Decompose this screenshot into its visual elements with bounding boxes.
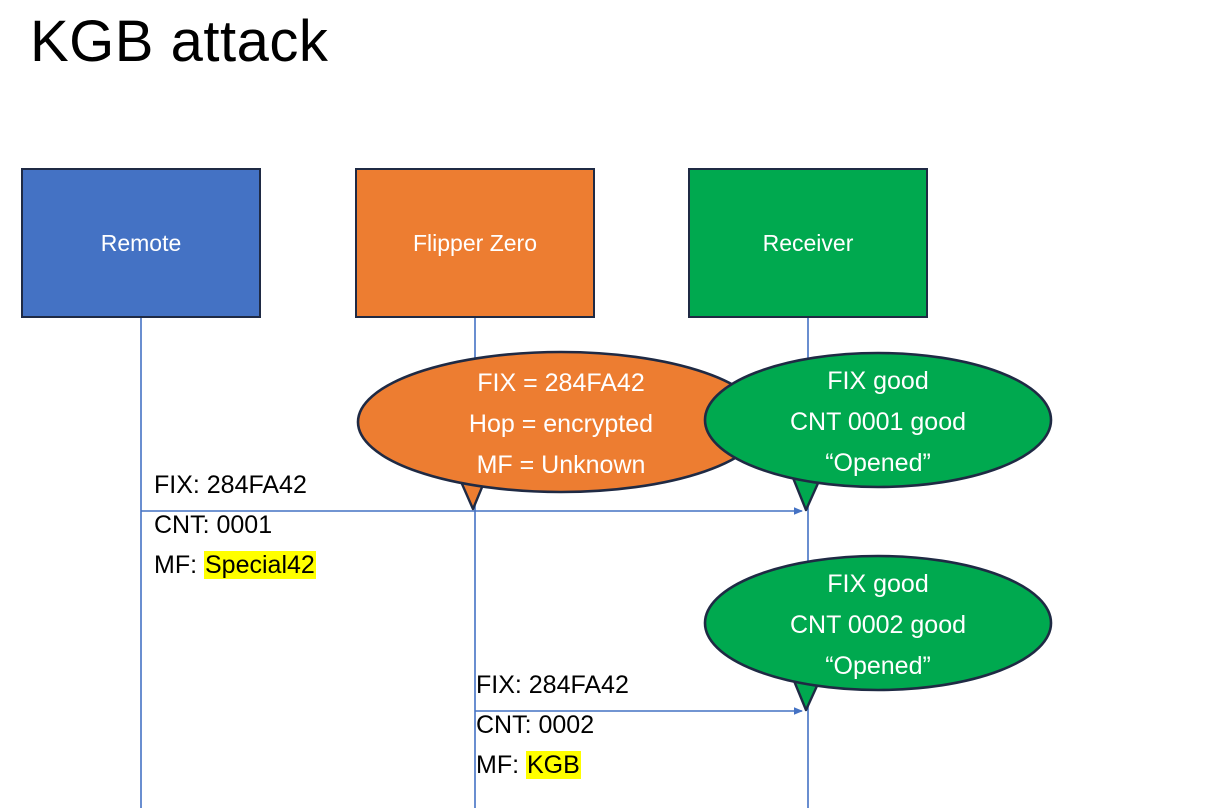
actor-box-flipper[interactable]: Flipper Zero — [355, 168, 595, 318]
message-label-1: FIX: 284FA42 CNT: 0001 MF: Special42 — [154, 465, 316, 585]
actor-box-receiver[interactable]: Receiver — [688, 168, 928, 318]
message-2-mf-value: KGB — [526, 751, 581, 779]
message-2-mf: MF: KGB — [476, 745, 629, 785]
message-2-mf-prefix: MF: — [476, 751, 526, 779]
message-1-mf: MF: Special42 — [154, 545, 316, 585]
callout-shape-receiver-1 — [705, 353, 1051, 510]
actor-label-receiver: Receiver — [763, 229, 854, 257]
slide-canvas: KGB attack — [0, 0, 1218, 808]
message-1-fix: FIX: 284FA42 — [154, 465, 316, 505]
callout-shape-receiver-2 — [705, 556, 1051, 710]
message-label-2: FIX: 284FA42 CNT: 0002 MF: KGB — [476, 665, 629, 785]
actor-box-remote[interactable]: Remote — [21, 168, 261, 318]
actor-label-remote: Remote — [101, 229, 182, 257]
message-1-cnt: CNT: 0001 — [154, 505, 316, 545]
message-1-mf-value: Special42 — [204, 551, 316, 579]
message-1-mf-prefix: MF: — [154, 551, 204, 579]
message-2-fix: FIX: 284FA42 — [476, 665, 629, 705]
actor-label-flipper: Flipper Zero — [413, 229, 537, 257]
callout-shape-flipper — [358, 352, 764, 509]
message-2-cnt: CNT: 0002 — [476, 705, 629, 745]
